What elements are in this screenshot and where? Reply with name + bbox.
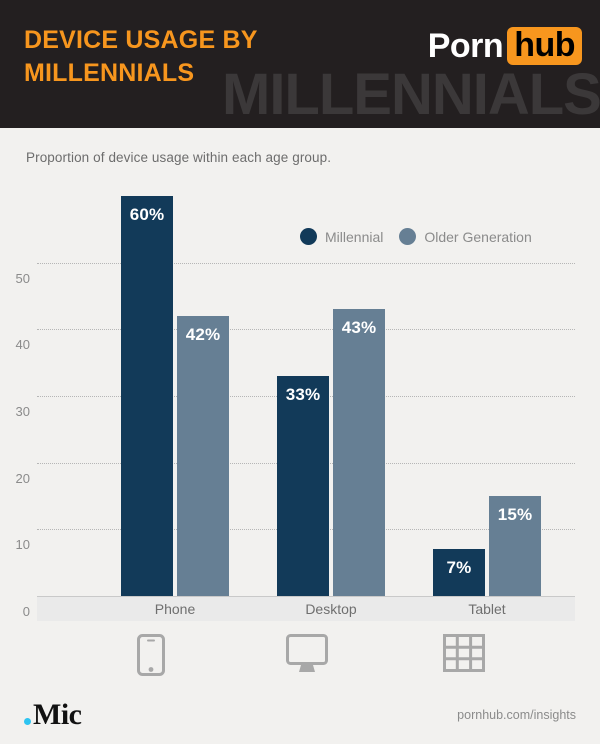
gridline [37, 263, 575, 264]
category-label-tablet: Tablet [417, 597, 557, 621]
bar-value-label: 33% [277, 385, 329, 405]
chart-plot-area: 0102030405060%42%33%43%7%15% [37, 196, 575, 596]
category-label-phone: Phone [105, 597, 245, 621]
category-label-desktop: Desktop [261, 597, 401, 621]
y-axis-tick-label: 30 [0, 404, 30, 419]
bar-tablet-millennial: 7% [433, 549, 485, 596]
phone-icon [121, 634, 181, 681]
bar-value-label: 60% [121, 205, 173, 225]
tablet-grid-icon [434, 634, 494, 677]
logo-text-porn: Porn [428, 29, 507, 63]
y-axis-tick-label: 10 [0, 537, 30, 552]
bar-desktop-millennial: 33% [277, 376, 329, 596]
bar-desktop-older-generation: 43% [333, 309, 385, 596]
logo-text-hub: hub [507, 27, 582, 65]
y-axis-tick-label: 20 [0, 471, 30, 486]
bar-value-label: 43% [333, 318, 385, 338]
mic-logo: Mic [24, 700, 81, 730]
page-title: DEVICE USAGE BY MILLENNIALS [24, 24, 354, 90]
pornhub-logo: Pornhub [428, 26, 582, 66]
mic-logo-text: Mic [33, 700, 81, 730]
gridline [37, 329, 575, 330]
desktop-monitor-icon [277, 634, 337, 679]
y-axis-tick-label: 0 [0, 604, 30, 619]
y-axis-tick-label: 50 [0, 271, 30, 286]
chart-subtitle: Proportion of device usage within each a… [26, 150, 331, 165]
bar-phone-older-generation: 42% [177, 316, 229, 596]
bar-value-label: 42% [177, 325, 229, 345]
bar-value-label: 15% [489, 505, 541, 525]
mic-dot-icon [24, 718, 31, 725]
category-axis-band: PhoneDesktopTablet [37, 597, 575, 621]
bar-phone-millennial: 60% [121, 196, 173, 596]
infographic-container: MILLENNIALS DEVICE USAGE BY MILLENNIALS … [0, 0, 600, 744]
header-banner: MILLENNIALS DEVICE USAGE BY MILLENNIALS … [0, 0, 600, 128]
footer-url: pornhub.com/insights [457, 708, 576, 722]
bar-value-label: 7% [433, 558, 485, 578]
bar-tablet-older-generation: 15% [489, 496, 541, 596]
footer-bar: Mic pornhub.com/insights [0, 690, 600, 744]
y-axis-tick-label: 40 [0, 337, 30, 352]
